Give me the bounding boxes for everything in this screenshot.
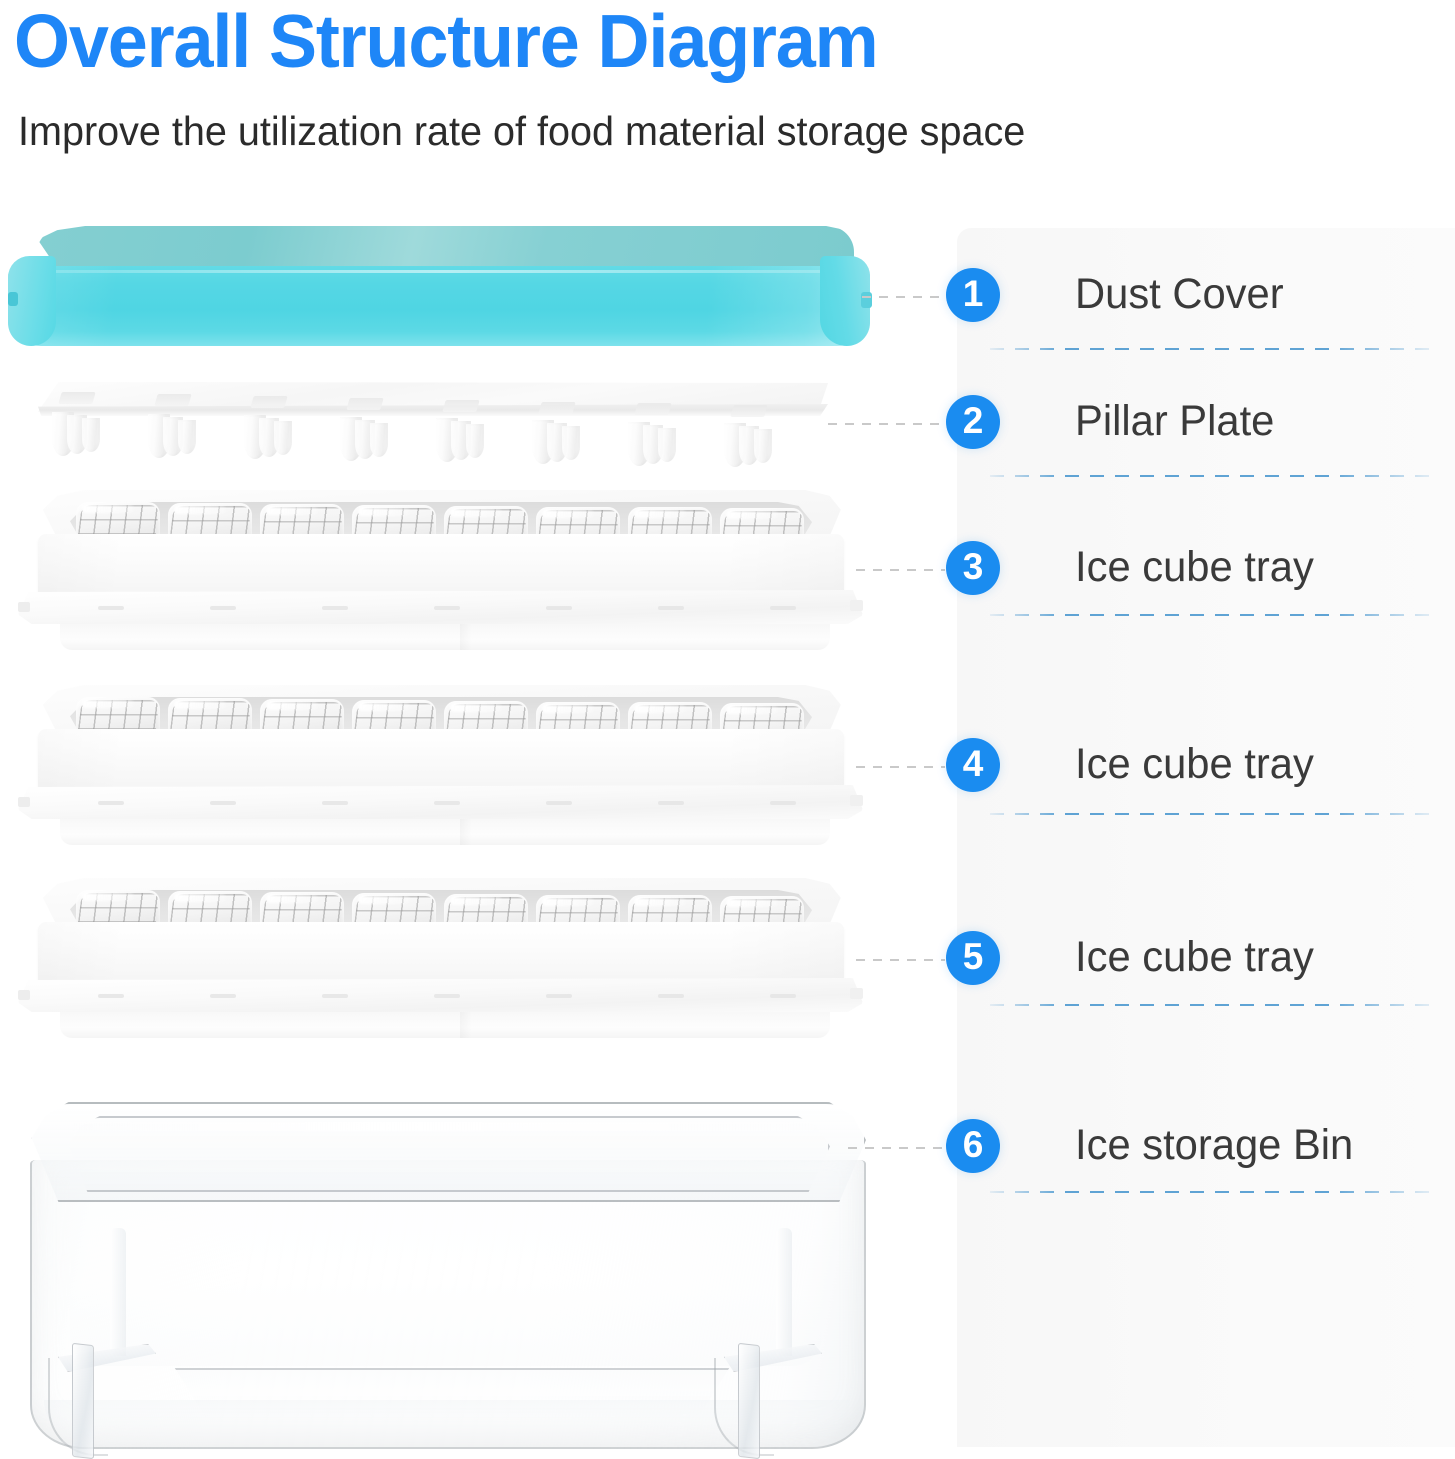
part-dust-cover[interactable] <box>8 226 870 346</box>
tray-flange-notch <box>546 994 572 998</box>
legend-label-dust-cover: Dust Cover <box>1075 270 1284 319</box>
tray-flange-notch <box>658 801 684 805</box>
leader-line <box>862 296 945 298</box>
ice-cube-highlight <box>634 897 686 906</box>
legend-badge-6[interactable]: 6 <box>946 1119 1000 1173</box>
ice-cube-highlight <box>358 702 410 711</box>
diagram-header: Overall Structure Diagram Improve the ut… <box>0 0 1455 180</box>
ice-cube-highlight <box>358 507 410 516</box>
ice-cube-highlight <box>266 894 318 903</box>
tray-right-tab <box>850 795 863 806</box>
tray-flange-notch <box>210 994 236 998</box>
pillar-plate-slot <box>634 403 671 415</box>
ice-cube-highlight <box>542 704 594 713</box>
tray-flange-notch <box>770 606 796 610</box>
pillar <box>754 429 772 463</box>
ice-cube-highlight <box>726 898 778 907</box>
tray-flange-notch-container <box>18 606 863 611</box>
tray-flange-notch <box>322 994 348 998</box>
bin-handle-left[interactable] <box>48 1228 144 1428</box>
legend-badge-1[interactable]: 1 <box>946 268 1000 322</box>
pillar <box>82 418 100 452</box>
pillar <box>562 426 580 460</box>
legend-badge-number: 6 <box>946 1118 1000 1172</box>
tray-right-tab <box>850 600 863 611</box>
tray-flange-notch <box>546 606 572 610</box>
bin-handle-right[interactable] <box>714 1228 810 1428</box>
ice-cube-highlight <box>450 508 502 517</box>
bin-rim-highlight <box>72 1122 816 1131</box>
tray-flange-notch <box>434 994 460 998</box>
tray-flange-notch <box>210 801 236 805</box>
tray-flange-notch <box>98 994 124 998</box>
tray-flange-notch-container <box>18 801 863 806</box>
legend-badge-5[interactable]: 5 <box>946 931 1000 985</box>
tray-flange-notch <box>770 801 796 805</box>
leader-line <box>828 423 945 425</box>
legend-badge-number: 5 <box>946 930 1000 984</box>
legend-badge-2[interactable]: 2 <box>946 395 1000 449</box>
legend-label-storage-bin: Ice storage Bin <box>1075 1121 1353 1170</box>
tray-flange-notch <box>658 606 684 610</box>
tray-flange-notch <box>434 801 460 805</box>
dust-cover-right-tab <box>861 292 872 308</box>
leader-line <box>856 766 945 768</box>
legend-separator <box>990 813 1440 815</box>
legend-badge-3[interactable]: 3 <box>946 541 1000 595</box>
legend-label-ice-tray-1: Ice cube tray <box>1075 543 1314 592</box>
ice-cube-highlight <box>266 506 318 515</box>
ice-cube-highlight <box>450 896 502 905</box>
page-subtitle: Improve the utilization rate of food mat… <box>18 108 1025 155</box>
tray-flange-notch <box>98 801 124 805</box>
pillar-plate-slot <box>538 402 575 414</box>
tray-left-tab <box>18 990 30 1000</box>
ice-cube-highlight <box>82 504 134 513</box>
legend-separator <box>990 614 1440 616</box>
legend-separator <box>990 1191 1440 1193</box>
tray-left-tab <box>18 602 30 612</box>
pillar-plate-slot <box>730 405 767 417</box>
ice-cube-highlight <box>266 701 318 710</box>
part-ice-cube-tray-3[interactable] <box>8 878 870 1053</box>
ice-cube-highlight <box>450 703 502 712</box>
ice-cube-highlight <box>542 509 594 518</box>
legend-label-ice-tray-2: Ice cube tray <box>1075 740 1314 789</box>
pillar <box>274 421 292 455</box>
part-ice-storage-bin[interactable] <box>14 1100 880 1447</box>
legend-separator <box>990 1004 1440 1006</box>
ice-cube-highlight <box>634 509 686 518</box>
leader-line <box>856 959 945 961</box>
tray-flange-notch <box>434 606 460 610</box>
tray-flange-notch <box>658 994 684 998</box>
tray-flange-notch <box>546 801 572 805</box>
pillar-plate-slot <box>250 396 287 408</box>
pillar <box>658 428 676 462</box>
ice-cube-highlight <box>542 897 594 906</box>
legend-label-pillar-plate: Pillar Plate <box>1075 397 1274 446</box>
tray-left-tab <box>18 797 30 807</box>
leader-line <box>856 569 945 571</box>
legend-separator <box>990 348 1440 350</box>
ice-cube-highlight <box>174 505 226 514</box>
tray-flange-notch <box>322 801 348 805</box>
legend-badge-4[interactable]: 4 <box>946 738 1000 792</box>
page-title: Overall Structure Diagram <box>14 0 878 84</box>
legend-badge-number: 1 <box>946 267 1000 321</box>
dust-cover-left-tab <box>8 292 18 306</box>
legend-label-ice-tray-3: Ice cube tray <box>1075 933 1314 982</box>
ice-cube-highlight <box>174 700 226 709</box>
dust-cover-front-face <box>8 266 870 346</box>
pillar <box>370 423 388 457</box>
pillar <box>178 420 196 454</box>
legend-separator <box>990 475 1440 477</box>
tray-flange-notch <box>322 606 348 610</box>
pillar-plate-slot <box>154 394 191 406</box>
ice-cube-highlight <box>634 704 686 713</box>
pillar-plate-slot <box>58 392 95 404</box>
tray-flange-notch <box>210 606 236 610</box>
pillar <box>466 424 484 458</box>
ice-cube-highlight <box>82 699 134 708</box>
legend-badge-number: 3 <box>946 540 1000 594</box>
part-ice-cube-tray-1[interactable] <box>8 490 870 665</box>
tray-flange-notch <box>770 994 796 998</box>
tray-right-tab <box>850 988 863 999</box>
dust-cover-seam <box>38 270 850 273</box>
ice-cube-highlight <box>726 705 778 714</box>
handle-wall <box>776 1228 792 1356</box>
ice-cube-highlight <box>358 895 410 904</box>
handle-wall <box>110 1228 126 1356</box>
handle-post <box>738 1343 760 1459</box>
part-pillar-plate[interactable] <box>38 382 828 460</box>
tray-flange-notch-container <box>18 994 863 999</box>
pillar-plate-slot <box>346 398 383 410</box>
ice-cube-highlight <box>174 893 226 902</box>
pillar-plate-slot <box>442 400 479 412</box>
legend-badge-number: 2 <box>946 394 1000 448</box>
leader-line <box>848 1147 945 1149</box>
legend-badge-number: 4 <box>946 737 1000 791</box>
ice-cube-highlight <box>726 510 778 519</box>
handle-post <box>72 1343 94 1459</box>
part-ice-cube-tray-2[interactable] <box>8 685 870 860</box>
ice-cube-highlight <box>82 892 134 901</box>
tray-flange-notch <box>98 606 124 610</box>
